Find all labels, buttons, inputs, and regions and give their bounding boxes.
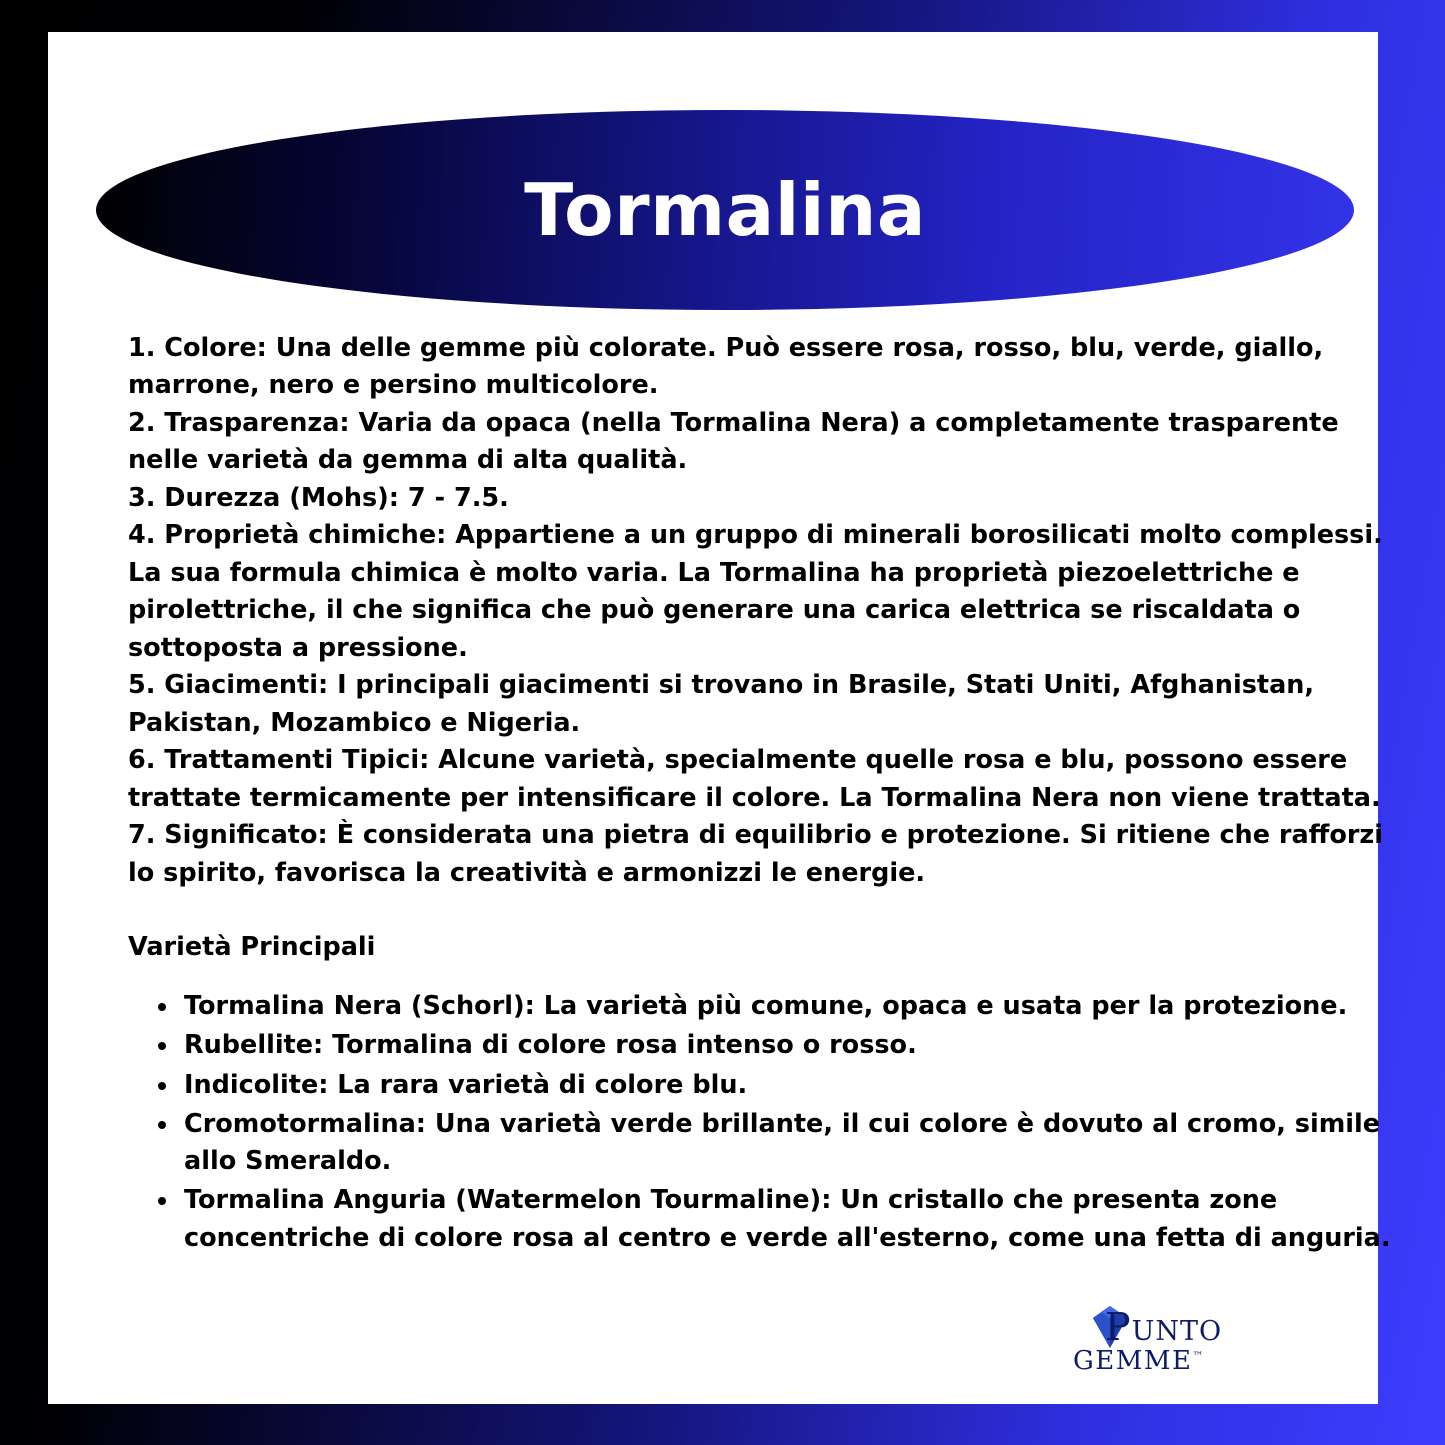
list-item: Tormalina Anguria (Watermelon Tourmaline… — [180, 1182, 1403, 1256]
paragraph-1: 1. Colore: Una delle gemme più colorate.… — [128, 330, 1403, 405]
list-item: Rubellite: Tormalina di colore rosa inte… — [180, 1027, 1403, 1064]
brand-logo: PUNTO GEMME™ — [1053, 1304, 1253, 1384]
page-title: Tormalina — [524, 168, 926, 252]
paragraph-2: 2. Trasparenza: Varia da opaca (nella To… — [128, 405, 1403, 480]
content-body: 1. Colore: Una delle gemme più colorate.… — [128, 330, 1403, 1259]
paragraph-7: 7. Significato: È considerata una pietra… — [128, 817, 1403, 892]
white-card: Tormalina 1. Colore: Una delle gemme più… — [48, 32, 1378, 1404]
variety-list: Tormalina Nera (Schorl): La varietà più … — [128, 988, 1403, 1257]
paragraph-3: 3. Durezza (Mohs): 7 - 7.5. — [128, 480, 1403, 517]
logo-line-2: GEMME™ — [1073, 1348, 1205, 1374]
logo-line-1: PUNTO — [1105, 1308, 1222, 1346]
title-banner: Tormalina — [96, 110, 1354, 310]
list-item: Tormalina Nera (Schorl): La varietà più … — [180, 988, 1403, 1025]
section-heading: Varietà Principali — [128, 932, 1403, 962]
list-item: Cromotormalina: Una varietà verde brilla… — [180, 1106, 1403, 1180]
paragraph-4: 4. Proprietà chimiche: Appartiene a un g… — [128, 517, 1403, 667]
poster-page: Tormalina 1. Colore: Una delle gemme più… — [0, 0, 1445, 1445]
paragraph-5: 5. Giacimenti: I principali giacimenti s… — [128, 667, 1403, 742]
paragraph-6: 6. Trattamenti Tipici: Alcune varietà, s… — [128, 742, 1403, 817]
list-item: Indicolite: La rara varietà di colore bl… — [180, 1067, 1403, 1104]
